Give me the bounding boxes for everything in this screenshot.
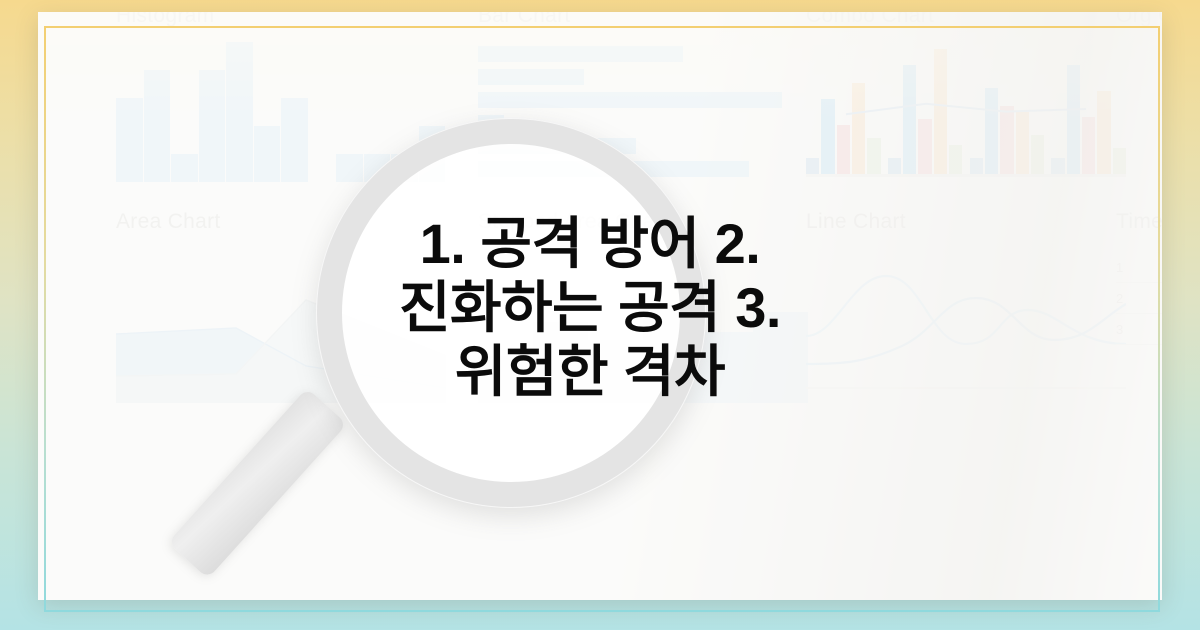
histogram-bar: [144, 70, 172, 182]
timeline-row-number: 2: [1116, 291, 1126, 306]
bar-chart-bar: [478, 115, 504, 131]
line-chart-plot: [806, 248, 1126, 398]
panel-title-histogram: Histogram: [116, 12, 446, 28]
timeline-row: 1Washington: [1116, 252, 1162, 283]
histogram-bar: [419, 126, 447, 182]
panel-title-area-chart: Area Chart: [116, 210, 446, 234]
histogram-bar: [171, 154, 199, 182]
panel-area-chart: Area Chart: [116, 210, 446, 403]
combo-chart-plot: [806, 44, 1126, 174]
area-chart-plot: [116, 248, 446, 403]
histogram-bar: [116, 98, 144, 182]
timeline-row-number: 3: [1116, 322, 1126, 337]
panel-combo-chart: Combo Chart: [806, 12, 1126, 174]
bar-chart-plot: [478, 46, 808, 177]
poster-canvas: Histogram Bar Chart Combo Chart Org Char…: [0, 0, 1200, 630]
panel-org-chart: Org Chart Jerry Vice PresidentKentCleane…: [1116, 12, 1162, 177]
histogram-bar: [391, 154, 419, 182]
histogram-bar: [199, 70, 227, 182]
histogram-bar: [281, 98, 309, 182]
dashboard-card: Histogram Bar Chart Combo Chart Org Char…: [38, 12, 1162, 600]
panel-title-timeline: Timeline: [1116, 210, 1162, 234]
histogram-plot: [116, 42, 446, 182]
combo-trend-line: [806, 44, 1126, 174]
panel-title-combo-chart: Combo Chart: [806, 12, 1126, 28]
histogram-bar: [226, 42, 254, 182]
org-chart-plot: Jerry Vice PresidentKentCleaners: [1116, 50, 1162, 177]
bar-chart-bar: [478, 138, 636, 154]
panel-line-chart: Line Chart: [806, 210, 1126, 398]
panel-histogram: Histogram: [116, 12, 446, 182]
panel-timeline: Timeline 1Washington23: [1116, 210, 1162, 345]
panel-title-bar-chart: Bar Chart: [478, 12, 808, 28]
panel-title-stepped-area-chart: Stepped Area Chart: [478, 210, 808, 234]
panel-title-line-chart: Line Chart: [806, 210, 1126, 234]
histogram-bar: [364, 154, 392, 182]
bar-chart-bar: [478, 69, 584, 85]
bar-chart-bar: [478, 92, 782, 108]
panel-bar-chart: Bar Chart: [478, 12, 808, 177]
panel-stepped-area-chart: Stepped Area Chart: [478, 210, 808, 403]
bar-chart-bar: [478, 161, 749, 177]
combo-axis: [806, 174, 1126, 177]
timeline-row: 3: [1116, 314, 1162, 345]
bar-chart-bar: [478, 46, 683, 62]
timeline-row-number: 1: [1116, 260, 1126, 275]
timeline-plot: 1Washington23: [1116, 252, 1162, 345]
panel-title-org-chart: Org Chart: [1116, 12, 1162, 28]
stepped-area-chart-plot: [478, 248, 808, 403]
histogram-bar: [336, 154, 364, 182]
histogram-bar: [254, 126, 282, 182]
timeline-row: 2: [1116, 283, 1162, 314]
